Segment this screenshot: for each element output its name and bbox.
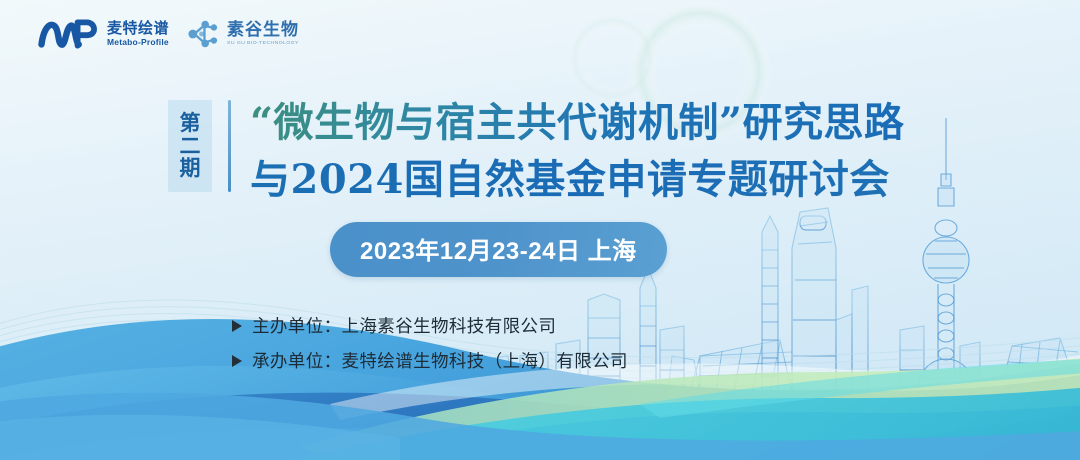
organizer-host: 主办单位：上海素谷生物科技有限公司 <box>252 313 556 338</box>
logo-sugu-cn: 素谷生物 <box>227 21 299 38</box>
issue-badge-group: 第 二 期 <box>168 100 231 192</box>
logo-sugu-bio[interactable]: 素谷生物 SU GU BIO-TECHNOLOGY <box>185 18 299 50</box>
organizer-list: 主办单位：上海素谷生物科技有限公司 承办单位：麦特绘谱生物科技（上海）有限公司 <box>232 313 628 383</box>
triangle-bullet-icon <box>232 320 242 332</box>
title-divider-rule <box>228 100 231 192</box>
issue-badge: 第 二 期 <box>168 100 212 192</box>
logo-metabo-en: Metabo-Profile <box>107 38 169 47</box>
event-poster: 麦特绘谱 Metabo-Profile <box>0 0 1080 460</box>
page-title: “微生物与宿主共代谢机制”研究思路 与2024国自然基金申请专题研讨会 <box>250 95 905 209</box>
triangle-bullet-icon <box>232 355 242 367</box>
date-location-badge: 2023年12月23-24日 上海 <box>330 222 667 277</box>
list-item: 主办单位：上海素谷生物科技有限公司 <box>232 313 628 338</box>
title-line-2: 与2024国自然基金申请专题研讨会 <box>250 152 905 209</box>
issue-char-3: 期 <box>180 157 201 179</box>
organizer-undertaker: 承办单位：麦特绘谱生物科技（上海）有限公司 <box>252 348 628 373</box>
list-item: 承办单位：麦特绘谱生物科技（上海）有限公司 <box>232 348 628 373</box>
issue-char-1: 第 <box>180 112 201 134</box>
logo-bar: 麦特绘谱 Metabo-Profile <box>38 16 299 52</box>
logo-metabo-profile[interactable]: 麦特绘谱 Metabo-Profile <box>38 16 169 52</box>
title-line-1: “微生物与宿主共代谢机制”研究思路 <box>250 95 905 152</box>
mp-monogram-icon <box>38 16 102 52</box>
logo-metabo-cn: 麦特绘谱 <box>107 21 169 36</box>
issue-char-2: 二 <box>180 135 201 157</box>
molecule-icon <box>185 18 221 50</box>
logo-sugu-en: SU GU BIO-TECHNOLOGY <box>227 42 299 47</box>
